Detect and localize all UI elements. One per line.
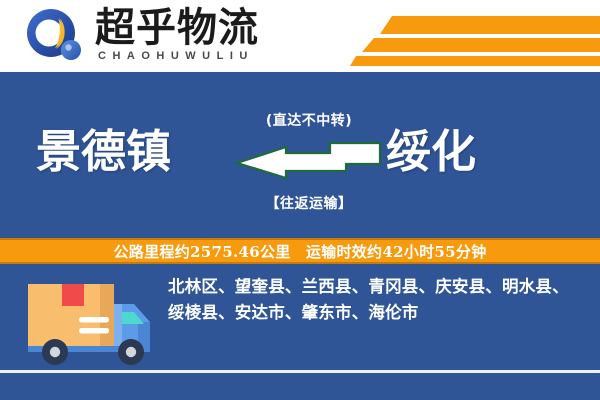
coverage-section: 北林区、望奎县、兰西县、青冈县、庆安县、明水县、 绥棱县、安达市、肇东市、海伦市 bbox=[0, 266, 600, 400]
bidirectional-arrow-icon bbox=[234, 140, 384, 185]
direct-service-note: (直达不中转) bbox=[234, 110, 384, 130]
round-trip-note: 【往返运输】 bbox=[234, 193, 384, 213]
destination-city: 绥化 bbox=[386, 126, 476, 178]
coverage-line-1: 北林区、望奎县、兰西县、青冈县、庆安县、明水县、 bbox=[168, 274, 586, 300]
distance-duration-text: 公路里程约2575.46公里 运输时效约42小时55分钟 bbox=[114, 241, 487, 262]
circle-crescent-logo-icon bbox=[26, 9, 84, 63]
route-middle-group: (直达不中转) 【往返运输】 bbox=[234, 108, 384, 218]
origin-city: 景德镇 bbox=[36, 126, 171, 178]
delivery-truck-icon bbox=[22, 272, 162, 372]
orange-speed-stripes-icon bbox=[350, 8, 600, 66]
logistics-route-banner: 超乎物流 CHAOHUWULIU 景德镇 绥化 (直达不中转) 【往返运输】 公… bbox=[0, 0, 600, 400]
coverage-line-2: 绥棱县、安达市、肇东市、海伦市 bbox=[168, 300, 586, 326]
brand-name-cn: 超乎物流 bbox=[95, 6, 259, 50]
brand-name-en: CHAOHUWULIU bbox=[98, 50, 254, 62]
ground-line bbox=[0, 370, 600, 373]
distance-duration-band: 公路里程约2575.46公里 运输时效约42小时55分钟 bbox=[0, 238, 600, 264]
coverage-area-list: 北林区、望奎县、兰西县、青冈县、庆安县、明水县、 绥棱县、安达市、肇东市、海伦市 bbox=[168, 274, 586, 326]
header-bar: 超乎物流 CHAOHUWULIU bbox=[0, 0, 600, 72]
